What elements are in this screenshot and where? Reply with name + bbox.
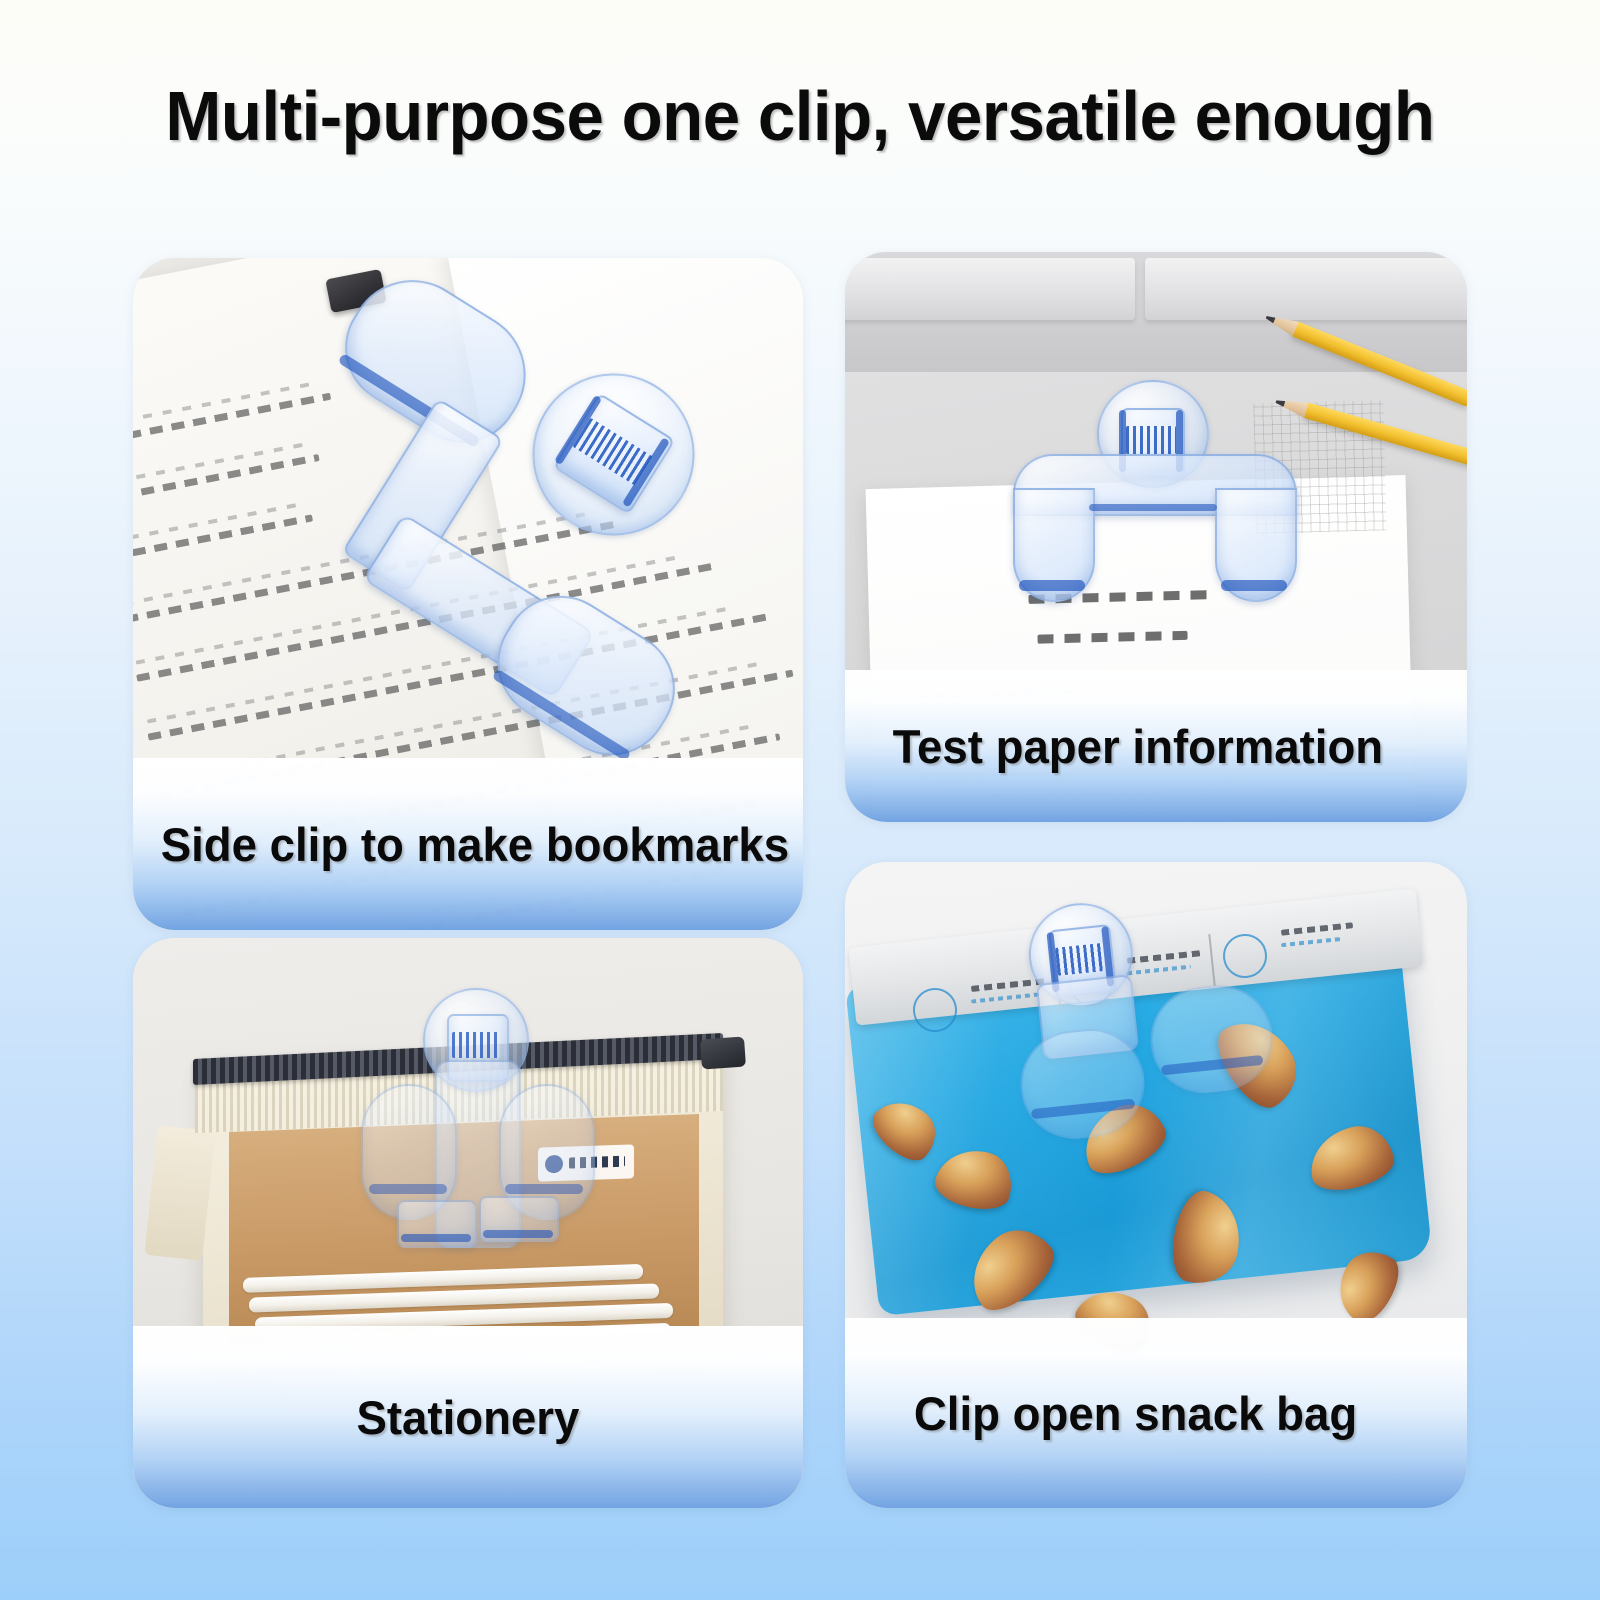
caption-text-bookmark: Side clip to make bookmarks [161, 817, 789, 872]
feature-card-snack-bag[interactable]: 净含量:250克 Net content 250 g Clip open sna… [845, 862, 1467, 1508]
feature-card-grid: Side clip to make bookmarks [0, 0, 1600, 1600]
product-clip-stationery [353, 988, 593, 1318]
zipper-pull [700, 1037, 746, 1070]
feature-card-test-paper[interactable]: Test paper information [845, 252, 1467, 822]
feature-card-bookmark[interactable]: Side clip to make bookmarks [133, 258, 803, 930]
desk-shelf-left [845, 258, 1135, 320]
product-clip-snack-bag [1006, 887, 1266, 1209]
caption-text-stationery: Stationery [357, 1390, 580, 1445]
product-clip-test-paper [1005, 380, 1301, 604]
caption-text-test-paper: Test paper information [893, 719, 1384, 774]
caption-band-test-paper: Test paper information [845, 670, 1467, 822]
feature-card-stationery[interactable]: Stationery [133, 938, 803, 1508]
desk-shelf-right [1145, 258, 1467, 320]
caption-band-snack-bag: Clip open snack bag [845, 1318, 1467, 1508]
caption-band-bookmark: Side clip to make bookmarks [133, 758, 803, 930]
caption-text-snack-bag: Clip open snack bag [914, 1386, 1357, 1441]
caption-band-stationery: Stationery [133, 1326, 803, 1508]
